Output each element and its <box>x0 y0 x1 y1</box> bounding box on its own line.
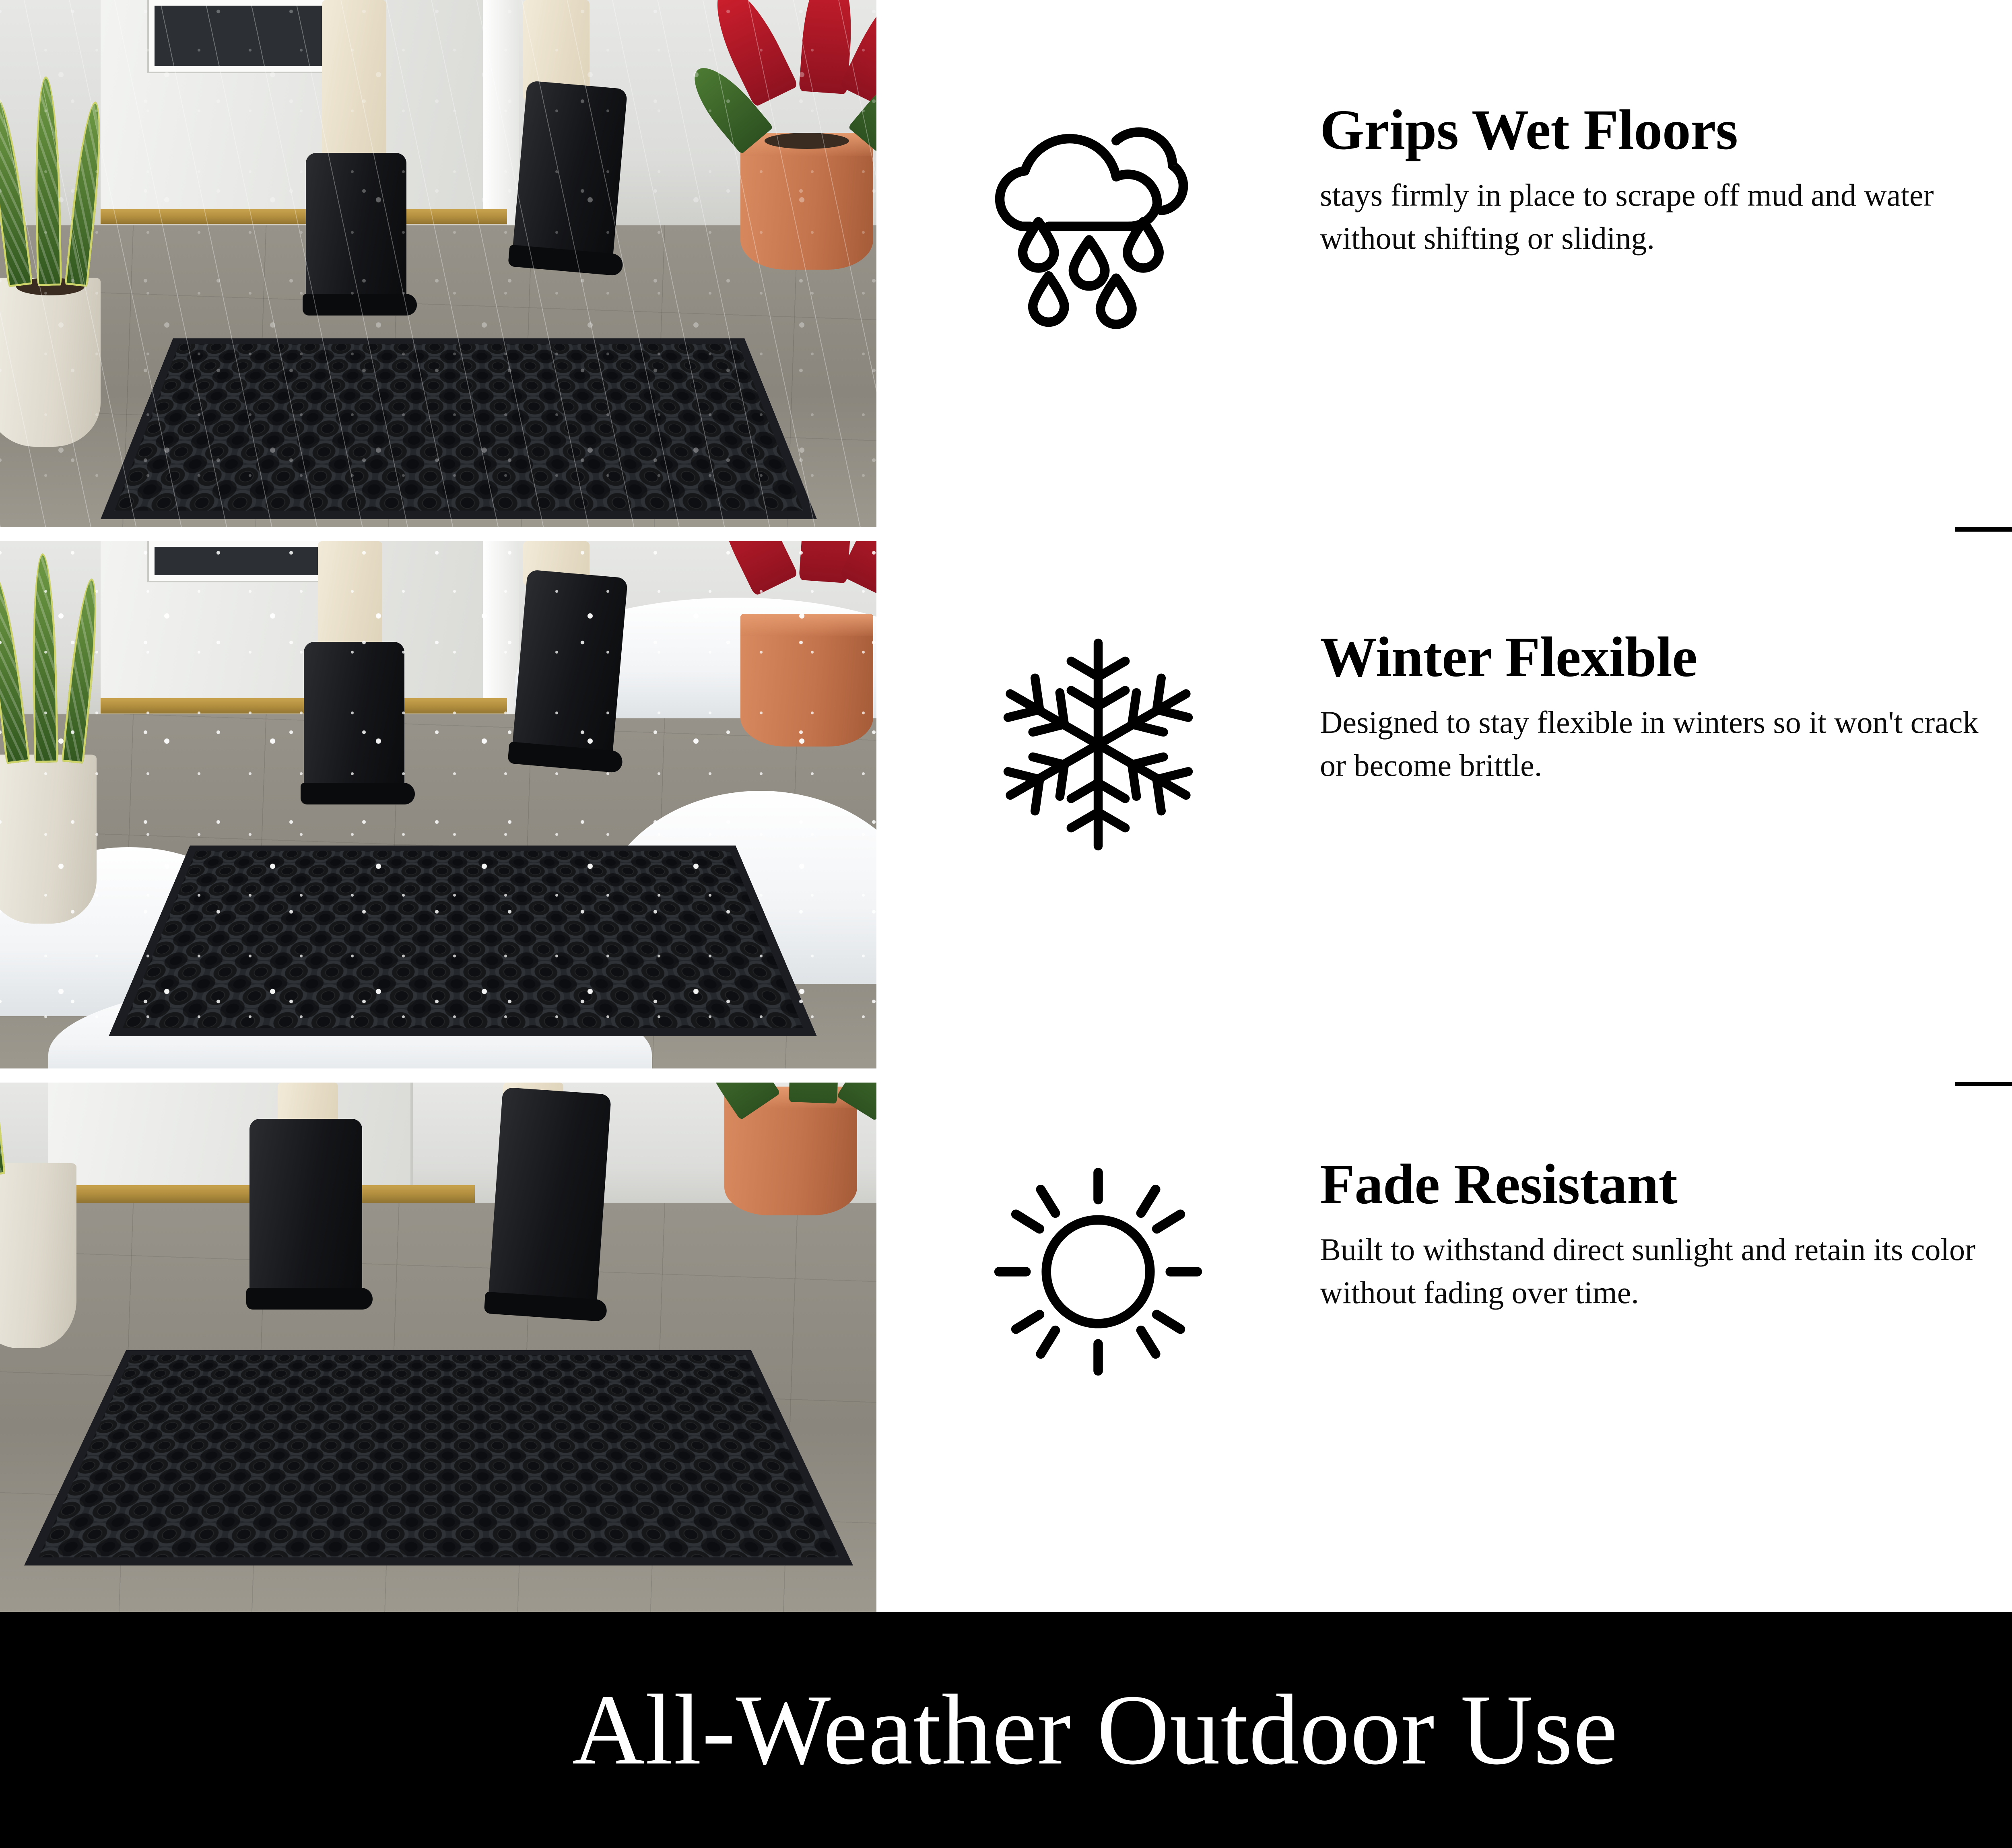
feature-text-block: Grips Wet Floors stays firmly in place t… <box>1320 101 2012 260</box>
feature-text-block: Winter Flexible Designed to stay flexibl… <box>1320 628 2012 787</box>
feature-description: stays firmly in place to scrape off mud … <box>1320 173 1980 260</box>
feature-title: Grips Wet Floors <box>1320 101 1981 159</box>
product-photo-snow <box>0 541 876 1068</box>
feature-title: Fade Resistant <box>1320 1155 1981 1213</box>
feature-title: Winter Flexible <box>1320 628 1981 686</box>
infographic-page: Grips Wet Floors stays firmly in place t… <box>0 0 2012 1848</box>
sun-icon <box>876 1155 1320 1384</box>
photo-column <box>0 0 876 1612</box>
feature-divider <box>1955 527 2012 532</box>
banner-headline: All-Weather Outdoor Use <box>572 1680 1618 1780</box>
product-photo-dry <box>0 1083 876 1612</box>
feature-description: Built to withstand direct sunlight and r… <box>1320 1228 1980 1314</box>
feature-item-fade-resistant: Fade Resistant Built to withstand direct… <box>876 1155 2012 1461</box>
feature-text-block: Fade Resistant Built to withstand direct… <box>1320 1155 2012 1314</box>
feature-divider <box>1955 1082 2012 1086</box>
feature-item-winter-flexible: Winter Flexible Designed to stay flexibl… <box>876 628 2012 934</box>
snowflake-icon <box>876 628 1320 857</box>
feature-column: Grips Wet Floors stays firmly in place t… <box>876 0 2012 1612</box>
bottom-banner: All-Weather Outdoor Use <box>0 1612 2012 1848</box>
product-photo-rain <box>0 0 876 527</box>
feature-item-grips-wet-floors: Grips Wet Floors stays firmly in place t… <box>876 101 2012 406</box>
rain-cloud-icon <box>876 101 1320 330</box>
feature-description: Designed to stay flexible in winters so … <box>1320 701 1980 787</box>
